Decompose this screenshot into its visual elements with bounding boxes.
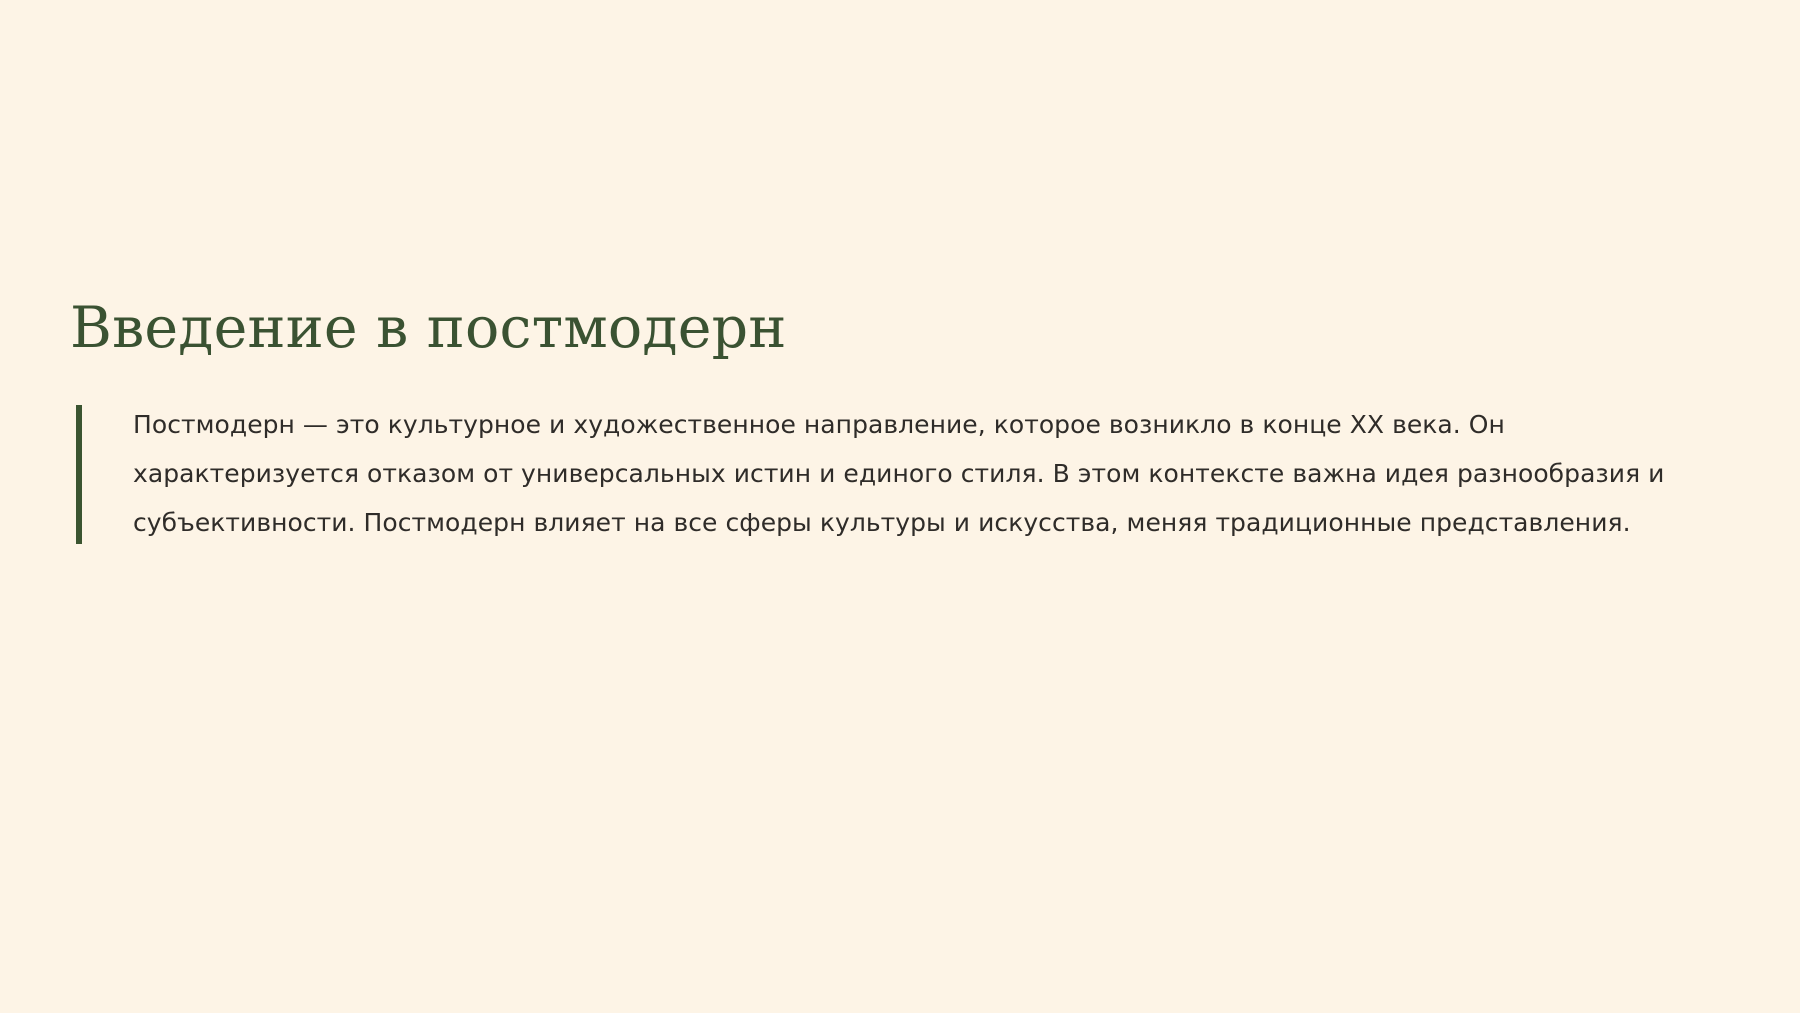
quote-block: Постмодерн — это культурное и художестве…	[70, 400, 1730, 547]
page-title: Введение в постмодерн	[70, 295, 1730, 362]
slide-canvas: Введение в постмодерн Постмодерн — это к…	[0, 0, 1800, 1013]
quote-paragraph: Постмодерн — это культурное и художестве…	[133, 400, 1723, 547]
accent-bar	[76, 405, 82, 544]
slide-content: Введение в постмодерн Постмодерн — это к…	[70, 295, 1730, 547]
